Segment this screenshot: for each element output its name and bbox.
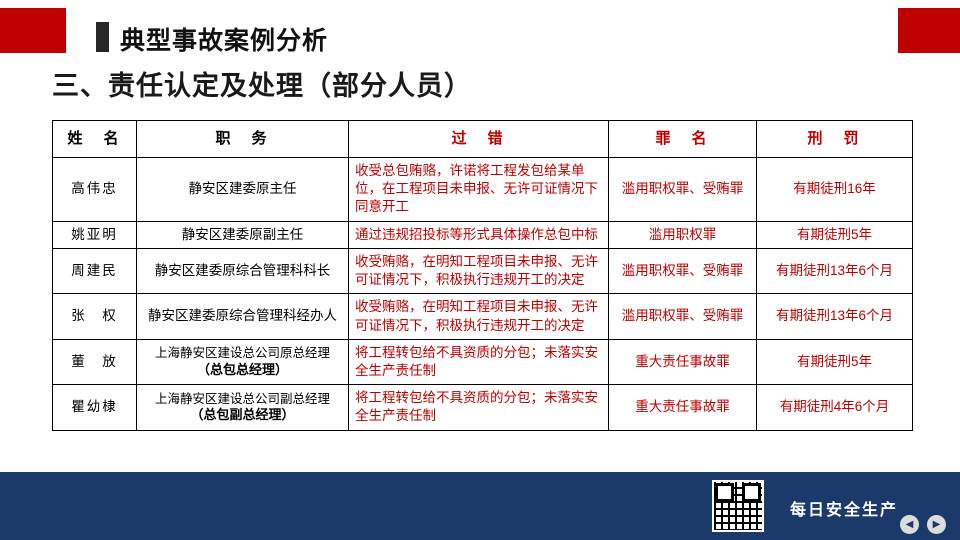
cell-crime: 滥用职权罪 (609, 221, 757, 248)
cell-fault: 将工程转包给不具资质的分包；未落实安全生产责任制 (349, 385, 609, 430)
header-fault: 过 错 (349, 121, 609, 158)
table-row: 周建民 静安区建委原综合管理科科长 收受贿赂，在明知工程项目未申报、无许可证情况… (53, 248, 913, 293)
table-header-row: 姓 名 职 务 过 错 罪 名 刑 罚 (53, 121, 913, 158)
cell-punish: 有期徒刑5年 (757, 339, 913, 384)
section-title: 三、责任认定及处理（部分人员） (52, 64, 472, 103)
qr-code-pattern (714, 482, 762, 530)
cell-post-sub: （总包总经理） (197, 362, 288, 377)
header-crime: 罪 名 (609, 121, 757, 158)
wechat-account-name: 每日安全生产 (790, 496, 898, 520)
cell-post: 静安区建委原综合管理科经办人 (137, 294, 349, 339)
cell-post-main: 上海静安区建设总公司副总经理 (155, 392, 330, 406)
top-right-red-bar (898, 8, 960, 53)
cell-name: 董 放 (53, 339, 137, 384)
table-row: 瞿幼棣 上海静安区建设总公司副总经理 （总包副总经理） 将工程转包给不具资质的分… (53, 385, 913, 430)
top-left-red-bar (0, 8, 66, 53)
cell-name: 张 权 (53, 294, 137, 339)
cell-post-main: 上海静安区建设总公司原总经理 (155, 346, 330, 360)
cell-crime: 滥用职权罪、受贿罪 (609, 158, 757, 222)
table-row: 高伟忠 静安区建委原主任 收受总包贿赂，许诺将工程发包给某单位，在工程项目未申报… (53, 158, 913, 222)
next-slide-icon[interactable]: ▶ (927, 515, 946, 534)
header-name: 姓 名 (53, 121, 137, 158)
responsibility-table-wrap: 姓 名 职 务 过 错 罪 名 刑 罚 高伟忠 静安区建委原主任 收受总包贿赂，… (52, 120, 912, 431)
table-row: 董 放 上海静安区建设总公司原总经理 （总包总经理） 将工程转包给不具资质的分包… (53, 339, 913, 384)
cell-crime: 滥用职权罪、受贿罪 (609, 294, 757, 339)
cell-post-sub: （总包副总经理） (190, 407, 294, 422)
slide-nav[interactable]: ◀ ▶ (900, 515, 946, 534)
cell-name: 高伟忠 (53, 158, 137, 222)
cell-fault: 收受贿赂，在明知工程项目未申报、无许可证情况下，积极执行违规开工的决定 (349, 248, 609, 293)
cell-name: 姚亚明 (53, 221, 137, 248)
qr-code (712, 480, 764, 532)
cell-punish: 有期徒刑4年6个月 (757, 385, 913, 430)
cell-fault: 收受总包贿赂，许诺将工程发包给某单位，在工程项目未申报、无许可证情况下同意开工 (349, 158, 609, 222)
prev-slide-icon[interactable]: ◀ (900, 515, 919, 534)
cell-post: 静安区建委原副主任 (137, 221, 349, 248)
cell-crime: 重大责任事故罪 (609, 385, 757, 430)
table-row: 张 权 静安区建委原综合管理科经办人 收受贿赂，在明知工程项目未申报、无许可证情… (53, 294, 913, 339)
title-marker (96, 22, 109, 52)
cell-punish: 有期徒刑13年6个月 (757, 248, 913, 293)
cell-punish: 有期徒刑5年 (757, 221, 913, 248)
cell-crime: 重大责任事故罪 (609, 339, 757, 384)
header-punish: 刑 罚 (757, 121, 913, 158)
cell-name: 周建民 (53, 248, 137, 293)
deck-title: 典型事故案例分析 (120, 21, 328, 57)
cell-post: 静安区建委原综合管理科科长 (137, 248, 349, 293)
cell-post: 静安区建委原主任 (137, 158, 349, 222)
table-row: 姚亚明 静安区建委原副主任 通过违规招投标等形式具体操作总包中标 滥用职权罪 有… (53, 221, 913, 248)
cell-fault: 收受贿赂，在明知工程项目未申报、无许可证情况下，积极执行违规开工的决定 (349, 294, 609, 339)
cell-punish: 有期徒刑16年 (757, 158, 913, 222)
cell-crime: 滥用职权罪、受贿罪 (609, 248, 757, 293)
cell-post: 上海静安区建设总公司原总经理 （总包总经理） (137, 339, 349, 384)
cell-punish: 有期徒刑13年6个月 (757, 294, 913, 339)
cell-name: 瞿幼棣 (53, 385, 137, 430)
responsibility-table: 姓 名 职 务 过 错 罪 名 刑 罚 高伟忠 静安区建委原主任 收受总包贿赂，… (52, 120, 913, 431)
cell-fault: 通过违规招投标等形式具体操作总包中标 (349, 221, 609, 248)
cell-fault: 将工程转包给不具资质的分包；未落实安全生产责任制 (349, 339, 609, 384)
cell-post: 上海静安区建设总公司副总经理 （总包副总经理） (137, 385, 349, 430)
header-post: 职 务 (137, 121, 349, 158)
